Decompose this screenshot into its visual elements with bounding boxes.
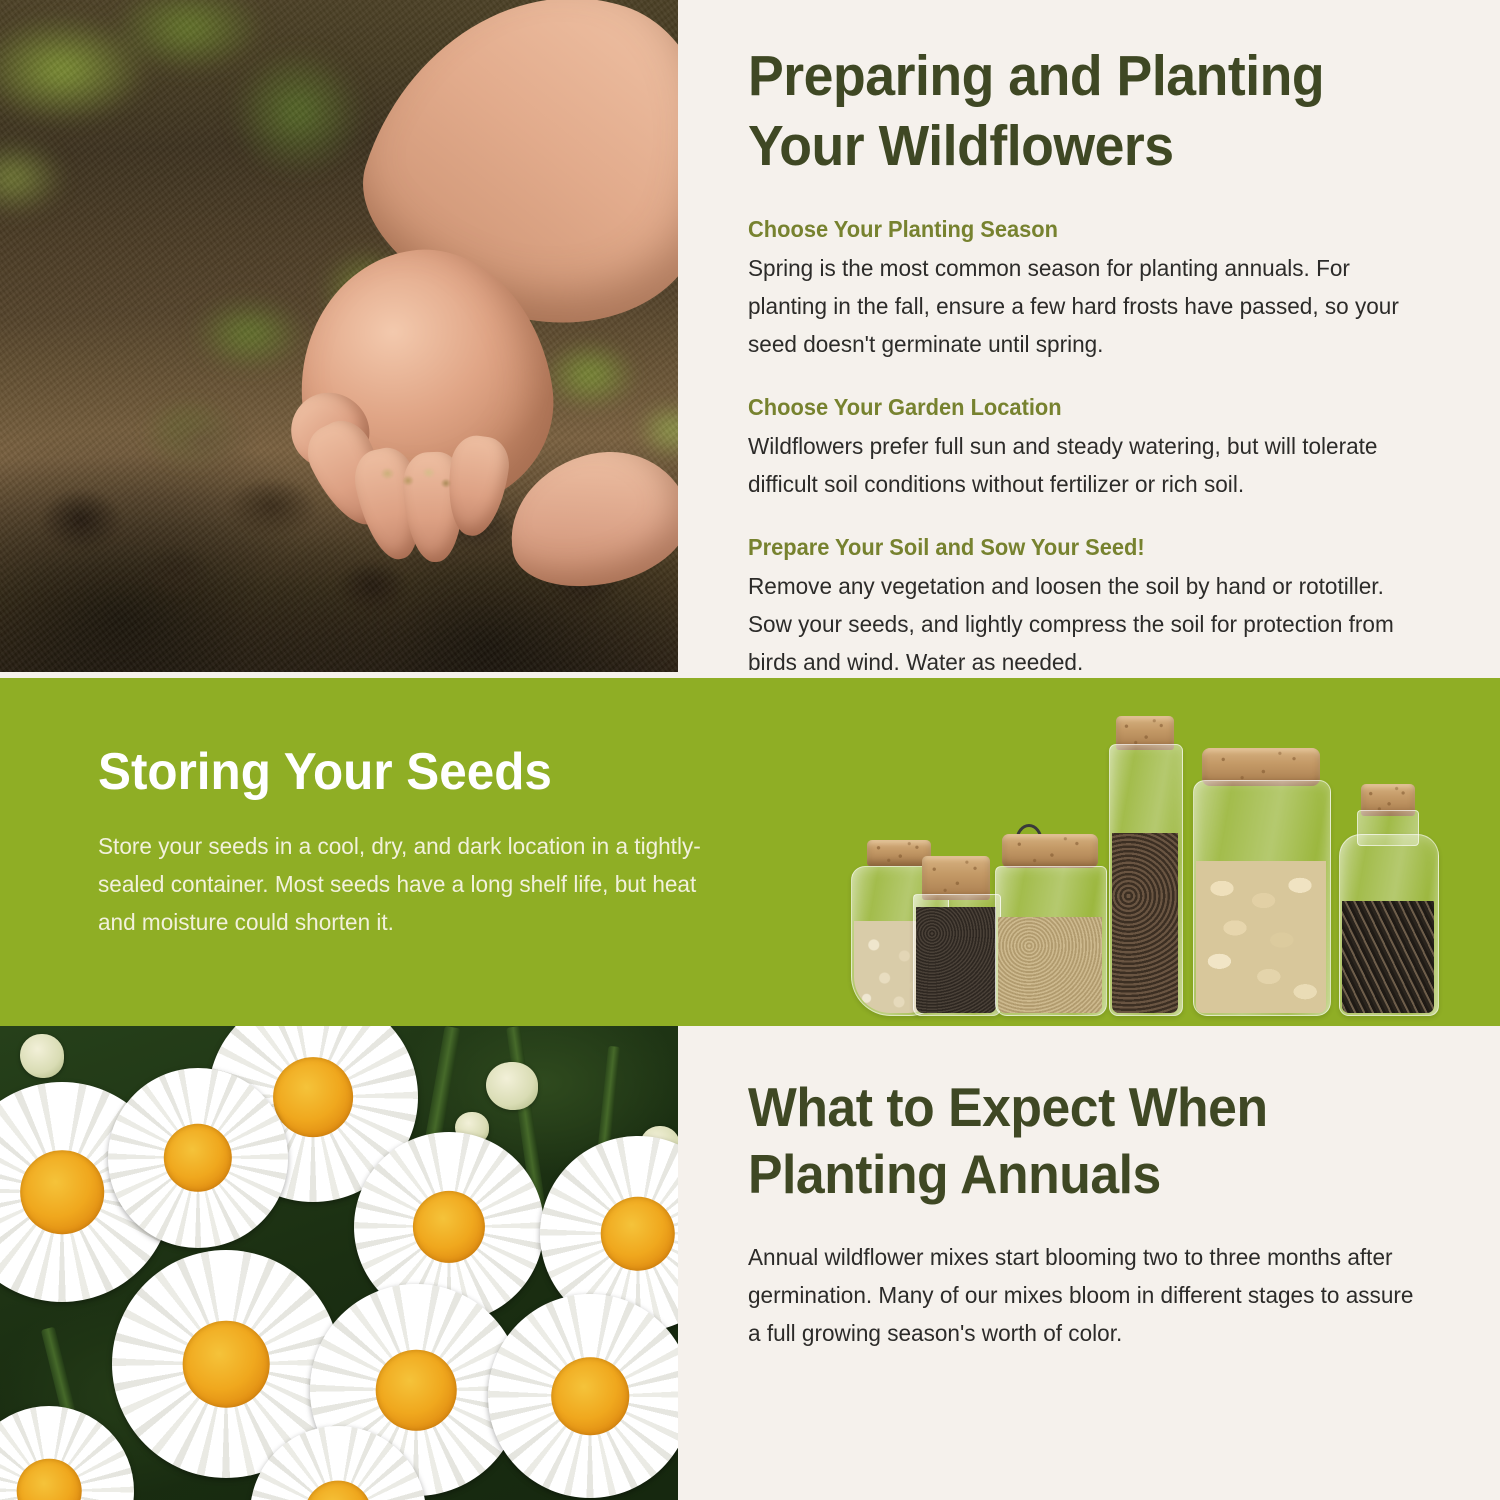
daisy-center	[183, 1321, 270, 1408]
jar-poppy-seeds	[913, 856, 999, 1016]
jar-pumpkin-seeds	[1193, 748, 1329, 1016]
body-planting-season: Spring is the most common season for pla…	[748, 249, 1420, 363]
green-text-panel: Storing Your Seeds Store your seeds in a…	[98, 744, 738, 941]
section-preparing-and-planting: Preparing and Planting Your Wildflowers …	[0, 0, 1500, 678]
jar-sunflower-seeds	[1339, 784, 1437, 1016]
hand-sowing-seeds-image	[0, 0, 678, 672]
daisy-flower	[108, 1068, 288, 1248]
body-what-to-expect: Annual wildflower mixes start blooming t…	[748, 1238, 1420, 1352]
jar-sand-seeds	[995, 816, 1105, 1016]
seeds-in-palm	[372, 456, 458, 500]
body-garden-location: Wildflowers prefer full sun and steady w…	[748, 427, 1420, 503]
jar-contents-pumpkin	[1196, 861, 1326, 1013]
block-prepare-soil: Prepare Your Soil and Sow Your Seed! Rem…	[748, 533, 1448, 681]
page-title-preparing: Preparing and Planting Your Wildflowers	[748, 0, 1406, 181]
cork-lid	[1002, 834, 1098, 868]
flower-bud	[486, 1062, 538, 1110]
jar-contents-poppy	[916, 907, 996, 1013]
subheading-garden-location: Choose Your Garden Location	[748, 393, 1413, 423]
flower-bud	[20, 1034, 64, 1078]
body-storing: Store your seeds in a cool, dry, and dar…	[98, 827, 712, 941]
bottom-text-panel: What to Expect When Planting Annuals Ann…	[748, 1026, 1448, 1500]
block-planting-season: Choose Your Planting Season Spring is th…	[748, 215, 1448, 363]
jar-contents-sunflower	[1342, 901, 1434, 1013]
white-daisies-image	[0, 1026, 678, 1500]
daisy-flower	[488, 1294, 678, 1498]
jar-contents-sand	[998, 917, 1102, 1013]
seed-jars-image	[845, 698, 1465, 1016]
page-title-what-to-expect: What to Expect When Planting Annuals	[748, 1026, 1406, 1208]
subheading-prepare-soil: Prepare Your Soil and Sow Your Seed!	[748, 533, 1413, 563]
daisy-center	[273, 1057, 353, 1137]
page-title-storing: Storing Your Seeds	[98, 744, 706, 801]
body-prepare-soil: Remove any vegetation and loosen the soi…	[748, 567, 1420, 681]
section-storing-your-seeds: Storing Your Seeds Store your seeds in a…	[0, 678, 1500, 1026]
daisy-center	[551, 1357, 629, 1435]
subheading-planting-season: Choose Your Planting Season	[748, 215, 1413, 245]
infographic-page: Preparing and Planting Your Wildflowers …	[0, 0, 1500, 1500]
daisy-center	[20, 1150, 104, 1234]
block-garden-location: Choose Your Garden Location Wildflowers …	[748, 393, 1448, 503]
jar-tall-tube-dark-seeds	[1109, 716, 1181, 1016]
daisy-center	[413, 1191, 485, 1263]
top-text-panel: Preparing and Planting Your Wildflowers …	[748, 0, 1448, 678]
daisy-center	[376, 1350, 457, 1431]
jar-contents-dark	[1112, 833, 1178, 1013]
